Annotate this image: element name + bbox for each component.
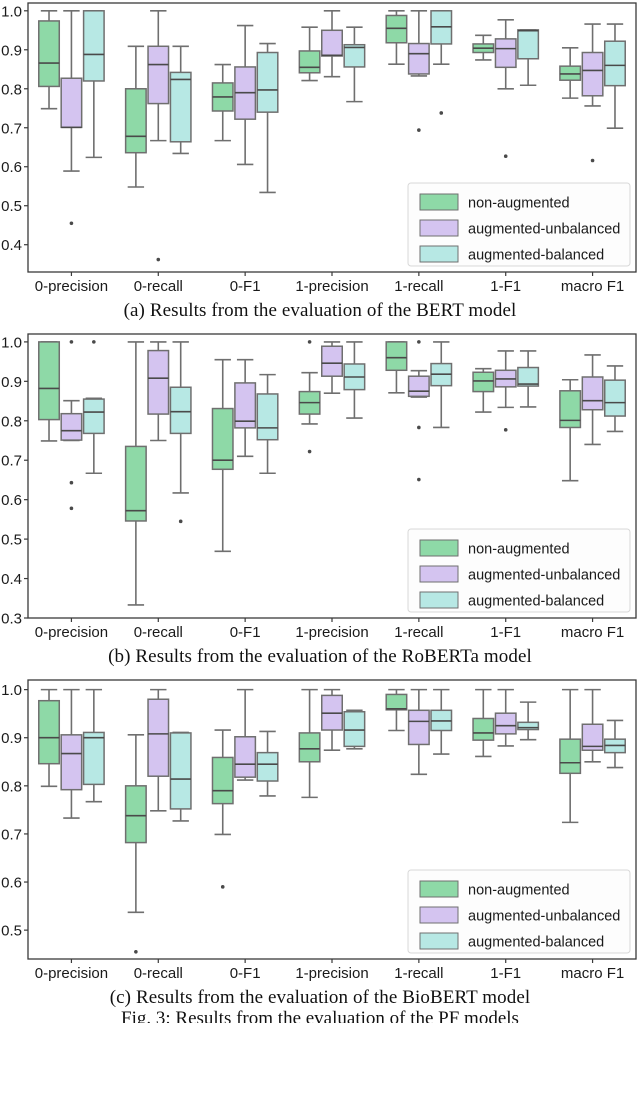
y-tick-label: 1.0 <box>1 682 22 699</box>
x-tick-label: 1-recall <box>394 965 443 982</box>
box <box>473 718 493 740</box>
panel-c-caption: (c) Results from the evaluation of the B… <box>0 987 640 1009</box>
legend-swatch-non_augmented <box>420 881 458 897</box>
y-tick-label: 0.4 <box>1 571 22 588</box>
x-tick-label: 0-F1 <box>230 278 261 295</box>
outlier-point <box>92 340 95 343</box>
x-tick-label: 0-F1 <box>230 965 261 982</box>
legend-swatch-augmented_balanced <box>420 933 458 949</box>
x-tick-label: 0-F1 <box>230 624 261 641</box>
y-tick-label: 0.5 <box>1 198 22 215</box>
legend-label-1: augmented-unbalanced <box>468 909 620 925</box>
legend-label-2: augmented-balanced <box>468 248 604 264</box>
x-tick-label: 1-recall <box>394 624 443 641</box>
x-tick-label: 1-precision <box>295 278 368 295</box>
box <box>170 72 190 141</box>
box <box>409 44 429 74</box>
y-tick-label: 0.9 <box>1 42 22 59</box>
boxplot-augmented_balanced-3 <box>344 710 364 748</box>
y-tick-label: 0.4 <box>1 237 22 254</box>
box <box>495 39 515 67</box>
box <box>582 53 602 96</box>
box <box>126 786 146 843</box>
outlier-point <box>417 340 420 343</box>
box <box>322 346 342 376</box>
y-tick-label: 0.9 <box>1 374 22 391</box>
outlier-point <box>157 258 160 261</box>
outlier-point <box>179 520 182 523</box>
outlier-point <box>417 129 420 132</box>
box <box>170 733 190 809</box>
box <box>582 377 602 410</box>
box <box>61 78 81 127</box>
outlier-point <box>440 111 443 114</box>
y-tick-label: 0.7 <box>1 120 22 137</box>
y-tick-label: 0.9 <box>1 730 22 747</box>
legend-swatch-non_augmented <box>420 194 458 210</box>
box <box>518 30 538 59</box>
box <box>560 739 580 773</box>
box <box>518 722 538 729</box>
panel-c: 0.50.60.70.80.91.00-precision0-recall0-F… <box>0 677 640 1009</box>
boxplot-augmented_balanced-1 <box>170 732 190 821</box>
y-tick-label: 0.6 <box>1 159 22 176</box>
legend-label-1: augmented-unbalanced <box>468 568 620 584</box>
box <box>560 391 580 428</box>
legend-swatch-augmented_balanced <box>420 246 458 262</box>
outlier-point <box>417 426 420 429</box>
box <box>148 699 168 776</box>
box <box>39 701 59 764</box>
box <box>605 41 625 85</box>
box <box>409 710 429 744</box>
box <box>409 376 429 396</box>
box <box>235 737 255 777</box>
x-tick-label: macro F1 <box>561 624 624 641</box>
x-tick-label: 1-F1 <box>490 965 521 982</box>
outlier-point <box>70 222 73 225</box>
legend-label-0: non-augmented <box>468 196 570 212</box>
x-tick-label: macro F1 <box>561 278 624 295</box>
box <box>344 712 364 747</box>
legend-swatch-non_augmented <box>420 540 458 556</box>
box <box>148 46 168 103</box>
outlier-point <box>417 478 420 481</box>
box <box>257 753 277 781</box>
legend-swatch-augmented_unbalanced <box>420 907 458 923</box>
chart-legend[interactable]: non-augmentedaugmented-unbalancedaugment… <box>408 870 630 953</box>
box <box>386 342 406 370</box>
box <box>257 53 277 113</box>
box <box>84 399 104 433</box>
box <box>126 446 146 521</box>
box <box>61 735 81 790</box>
box <box>39 342 59 420</box>
y-tick-label: 0.5 <box>1 532 22 549</box>
panel-a-caption: (a) Results from the evaluation of the B… <box>0 300 640 322</box>
panel-b: 0.30.40.50.60.70.80.91.00-precision0-rec… <box>0 331 640 668</box>
x-tick-label: 1-precision <box>295 965 368 982</box>
legend-label-1: augmented-unbalanced <box>468 222 620 238</box>
box <box>299 51 319 73</box>
panel-b-caption: (b) Results from the evaluation of the R… <box>0 646 640 668</box>
x-tick-label: macro F1 <box>561 965 624 982</box>
box <box>212 757 232 803</box>
x-tick-label: 0-precision <box>35 965 108 982</box>
legend-label-0: non-augmented <box>468 542 570 558</box>
legend-label-2: augmented-balanced <box>468 594 604 610</box>
figure-container: 0.40.50.60.70.80.91.00-precision0-recall… <box>0 0 640 1120</box>
outlier-point <box>221 885 224 888</box>
y-tick-label: 0.8 <box>1 81 22 98</box>
box <box>495 713 515 734</box>
outlier-point <box>591 159 594 162</box>
x-tick-label: 0-precision <box>35 278 108 295</box>
x-tick-label: 1-recall <box>394 278 443 295</box>
x-tick-label: 1-F1 <box>490 624 521 641</box>
figure-caption: Fig. 3: Results from the evaluation of t… <box>0 1009 640 1023</box>
legend-label-2: augmented-balanced <box>468 935 604 951</box>
box <box>126 89 146 153</box>
box <box>386 694 406 709</box>
boxplot-chart-b: 0.30.40.50.60.70.80.91.00-precision0-rec… <box>0 331 640 646</box>
y-tick-label: 0.8 <box>1 778 22 795</box>
box <box>84 11 104 81</box>
outlier-point <box>70 481 73 484</box>
x-tick-label: 1-F1 <box>490 278 521 295</box>
y-tick-label: 0.6 <box>1 492 22 509</box>
chart-legend[interactable]: non-augmentedaugmented-unbalancedaugment… <box>408 183 630 266</box>
box <box>148 351 168 415</box>
box <box>518 368 538 387</box>
y-tick-label: 1.0 <box>1 334 22 351</box>
outlier-point <box>134 950 137 953</box>
box <box>257 394 277 440</box>
legend-swatch-augmented_unbalanced <box>420 220 458 236</box>
panel-a: 0.40.50.60.70.80.91.00-precision0-recall… <box>0 0 640 322</box>
outlier-point <box>70 507 73 510</box>
y-tick-label: 0.3 <box>1 611 22 628</box>
y-tick-label: 0.8 <box>1 413 22 430</box>
y-tick-label: 0.7 <box>1 453 22 470</box>
x-tick-label: 0-recall <box>134 965 183 982</box>
y-tick-label: 0.7 <box>1 826 22 843</box>
y-tick-label: 0.6 <box>1 875 22 892</box>
chart-legend[interactable]: non-augmentedaugmented-unbalancedaugment… <box>408 529 630 612</box>
x-tick-label: 0-recall <box>134 278 183 295</box>
y-tick-label: 0.5 <box>1 923 22 940</box>
legend-swatch-augmented_unbalanced <box>420 566 458 582</box>
outlier-point <box>504 155 507 158</box>
box <box>605 380 625 416</box>
box <box>170 387 190 433</box>
x-tick-label: 1-precision <box>295 624 368 641</box>
box <box>322 30 342 56</box>
outlier-point <box>70 340 73 343</box>
outlier-point <box>308 450 311 453</box>
legend-label-0: non-augmented <box>468 883 570 899</box>
box <box>39 21 59 86</box>
legend-swatch-augmented_balanced <box>420 592 458 608</box>
box <box>84 732 104 784</box>
outlier-point <box>308 340 311 343</box>
x-tick-label: 0-precision <box>35 624 108 641</box>
boxplot-chart-a: 0.40.50.60.70.80.91.00-precision0-recall… <box>0 0 640 300</box>
box <box>61 414 81 440</box>
box <box>473 372 493 391</box>
boxplot-chart-c: 0.50.60.70.80.91.00-precision0-recall0-F… <box>0 677 640 987</box>
box <box>299 733 319 762</box>
x-tick-label: 0-recall <box>134 624 183 641</box>
outlier-point <box>504 428 507 431</box>
y-tick-label: 1.0 <box>1 3 22 20</box>
